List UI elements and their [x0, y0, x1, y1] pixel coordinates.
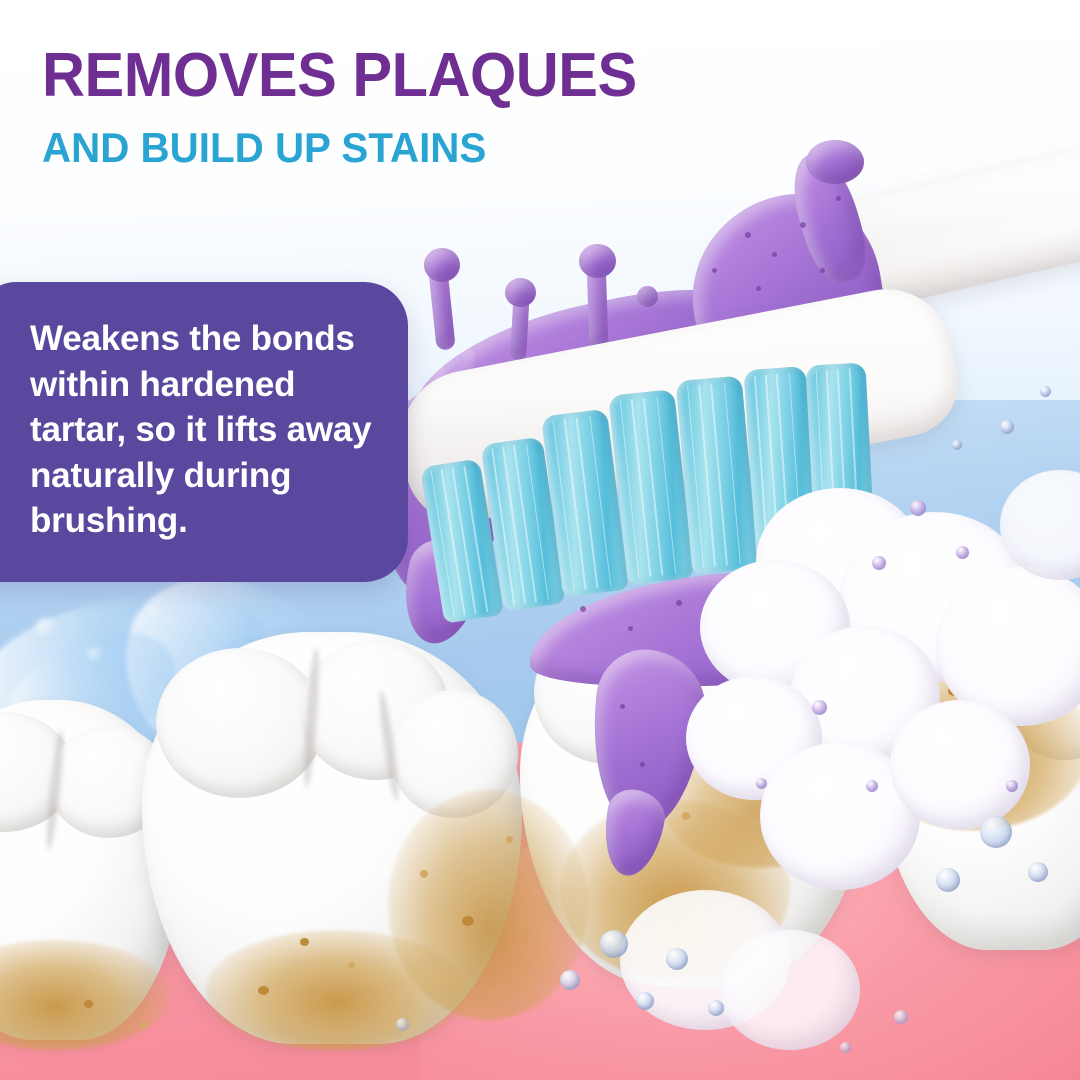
tartar-speck-6: [506, 836, 513, 843]
gel-speck-1: [745, 232, 751, 238]
bubble-purple-7: [1006, 780, 1018, 792]
bubble-11: [952, 440, 962, 450]
tartar-speck-3: [258, 986, 269, 995]
foam-cluster-8: [890, 700, 1030, 830]
bubble-purple-3: [872, 556, 886, 570]
water-droplet-c: [150, 606, 162, 616]
foam-cluster-10: [720, 930, 860, 1050]
bubble-5: [666, 948, 688, 970]
benefit-callout-box: Weakens the bonds within hardened tartar…: [0, 282, 408, 582]
bubble-13: [840, 1042, 851, 1053]
bubble-purple-5: [812, 700, 827, 715]
gel-blob-speck-3: [676, 600, 682, 606]
bubble-12: [894, 1010, 908, 1024]
bubble-7: [708, 1000, 724, 1016]
bubble-2: [936, 868, 960, 892]
tartar-speck-13: [84, 1000, 93, 1008]
page-subtitle: AND BUILD UP STAINS: [42, 126, 486, 171]
gel-speck-5: [820, 268, 825, 273]
bubble-purple-4: [866, 780, 878, 792]
gel-droplet-free: [637, 286, 658, 307]
bubble-3: [1028, 862, 1048, 882]
bubble-14: [396, 1018, 409, 1031]
bubble-purple-6: [756, 778, 767, 789]
water-droplet-a: [36, 618, 58, 636]
gel-speck-3: [800, 222, 806, 228]
gel-speck-2: [772, 252, 777, 257]
gel-blob-speck-6: [620, 704, 625, 709]
tartar-stain-center-right: [388, 790, 588, 1020]
gel-spike-2-tip: [505, 278, 536, 307]
bubble-4: [600, 930, 628, 958]
bubble-1: [980, 816, 1012, 848]
tartar-speck-14: [140, 1022, 147, 1029]
page-title: REMOVES PLAQUES: [42, 44, 637, 108]
benefit-callout-text: Weakens the bonds within hardened tartar…: [30, 316, 378, 544]
water-droplet-b: [88, 648, 102, 660]
bubble-purple-1: [910, 500, 926, 516]
tartar-speck-8: [682, 812, 690, 820]
tartar-speck-2: [348, 962, 355, 969]
tartar-speck-4: [420, 870, 428, 878]
gel-crest: [806, 140, 864, 184]
gel-speck-7: [836, 196, 841, 201]
bubble-10: [1040, 386, 1051, 397]
bubble-6: [636, 992, 654, 1010]
bubble-9: [1000, 420, 1014, 434]
bubble-8: [560, 970, 580, 990]
gel-speck-6: [712, 268, 717, 273]
gel-spike-3-tip: [579, 244, 616, 278]
ad-canvas: MAYFAIR REMOVES PLAQUES AND BUILD UP STA…: [0, 0, 1080, 1080]
gel-speck-4: [756, 286, 761, 291]
gel-blob-speck-2: [628, 626, 633, 631]
molar-center-cusp-1: [156, 648, 324, 798]
tartar-speck-1: [300, 938, 309, 946]
gel-blob-speck-7: [640, 762, 645, 767]
tartar-speck-5: [462, 916, 474, 926]
gel-spike-1-tip: [424, 248, 460, 282]
bubble-purple-2: [956, 546, 969, 559]
gel-blob-speck-1: [580, 606, 586, 612]
